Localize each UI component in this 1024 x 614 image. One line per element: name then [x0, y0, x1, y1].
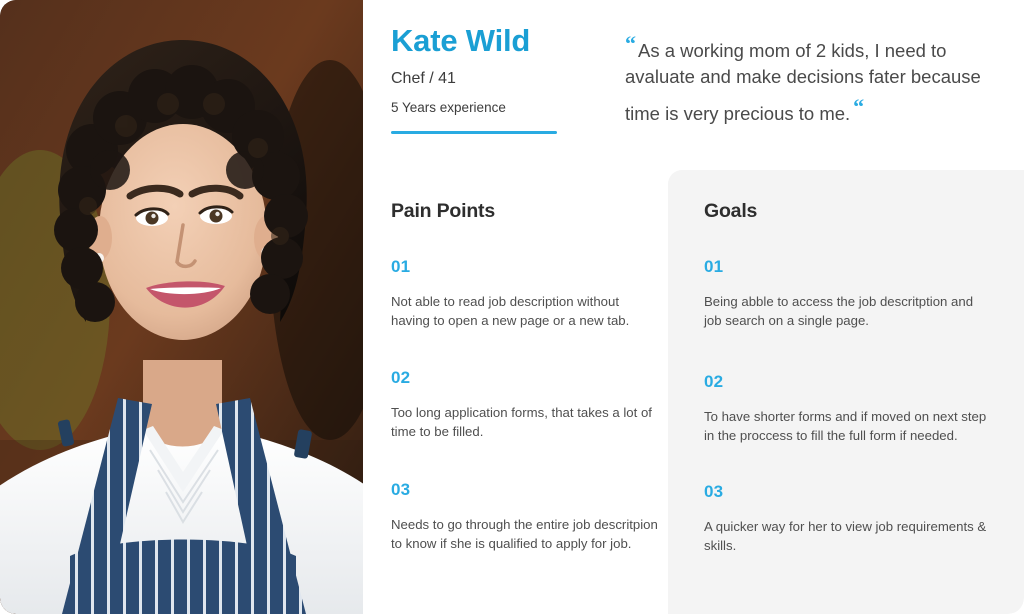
pain-point-text: Too long application forms, that takes a… [391, 403, 659, 441]
persona-card: Kate Wild Chef / 41 5 Years experience “… [0, 0, 1024, 614]
persona-role: Chef / 41 [391, 70, 631, 88]
quote-close-icon: “ [853, 94, 863, 119]
content-pane: Kate Wild Chef / 41 5 Years experience “… [363, 0, 1024, 614]
goal-text: Being abble to access the job descritpti… [704, 292, 994, 330]
pain-point-number: 01 [391, 257, 659, 277]
list-item: 03 A quicker way for her to view job req… [704, 482, 994, 555]
goal-number: 02 [704, 372, 994, 392]
pain-points-title: Pain Points [391, 200, 659, 223]
persona-photo-illustration [0, 0, 363, 614]
list-item: 01 Being abble to access the job descrit… [704, 257, 994, 330]
list-item: 03 Needs to go through the entire job de… [391, 480, 659, 553]
goal-number: 03 [704, 482, 994, 502]
pain-point-text: Not able to read job description without… [391, 292, 659, 330]
pain-point-text: Needs to go through the entire job descr… [391, 515, 659, 553]
quote-body: As a working mom of 2 kids, I need to av… [625, 40, 981, 124]
goals-title: Goals [704, 200, 994, 223]
list-item: 02 To have shorter forms and if moved on… [704, 372, 994, 445]
quote-open-icon: “ [625, 31, 635, 56]
persona-identity: Kate Wild Chef / 41 5 Years experience [391, 24, 631, 134]
list-item: 01 Not able to read job description with… [391, 257, 659, 330]
page-title: Kate Wild [391, 24, 631, 58]
pain-points-column: Pain Points 01 Not able to read job desc… [391, 200, 659, 553]
goal-text: A quicker way for her to view job requir… [704, 517, 994, 555]
persona-photo [0, 0, 363, 614]
quote-text-line: “As a working mom of 2 kids, I need to a… [625, 28, 1010, 127]
goal-text: To have shorter forms and if moved on ne… [704, 407, 994, 445]
goal-number: 01 [704, 257, 994, 277]
list-item: 02 Too long application forms, that take… [391, 368, 659, 441]
persona-quote: “As a working mom of 2 kids, I need to a… [625, 28, 1010, 127]
goals-column: Goals 01 Being abble to access the job d… [704, 200, 994, 555]
pain-point-number: 02 [391, 368, 659, 388]
pain-point-number: 03 [391, 480, 659, 500]
accent-divider [391, 131, 557, 134]
persona-experience: 5 Years experience [391, 100, 631, 115]
